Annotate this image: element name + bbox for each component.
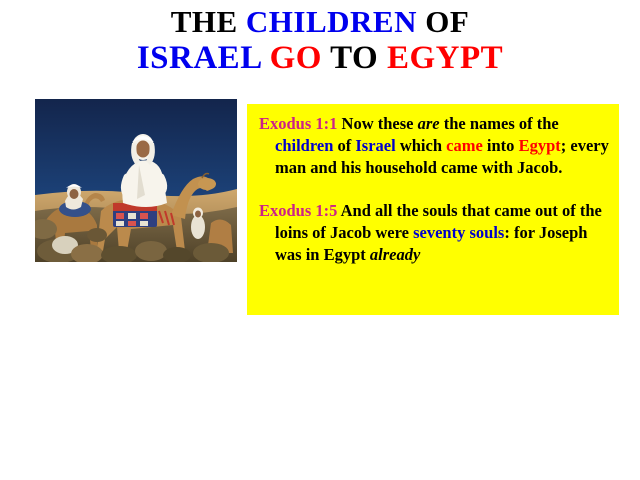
title-word-children: CHILDREN xyxy=(246,4,425,39)
verse-run-1-9: into xyxy=(483,136,519,155)
slide-title: THE CHILDREN OF ISRAEL GO TO EGYPT xyxy=(0,4,640,76)
verse-run-1-3: the names of the xyxy=(440,114,559,133)
verse-run-2-2-seventy-souls: seventy souls xyxy=(413,223,504,242)
title-word-of: OF xyxy=(425,4,469,39)
title-word-egypt: EGYPT xyxy=(387,40,503,76)
verse-run-2-4-italic-already: already xyxy=(370,245,420,264)
caravan-painting-illustration xyxy=(35,99,237,262)
verse-reference-exodus-1-5: Exodus 1:5 xyxy=(259,201,337,220)
verse-run-1-2-italic-are: are xyxy=(418,114,440,133)
title-word-the: THE xyxy=(171,4,246,39)
verse-paragraph-exodus-1-1: Exodus 1:1 Now these are the names of th… xyxy=(259,113,609,179)
slide-title-line-2: ISRAEL GO TO EGYPT xyxy=(0,40,640,76)
slide-title-line-1: THE CHILDREN OF xyxy=(0,4,640,40)
verse-run-1-6-israel: Israel xyxy=(355,136,395,155)
verse-run-1-4-children: children xyxy=(275,136,333,155)
verse-run-1-1: Now these xyxy=(337,114,417,133)
scripture-text-box: Exodus 1:1 Now these are the names of th… xyxy=(247,104,619,315)
verse-paragraph-exodus-1-5: Exodus 1:5 And all the souls that came o… xyxy=(259,200,609,266)
title-word-israel: ISRAEL xyxy=(137,40,270,76)
verse-run-1-8-came: came xyxy=(446,136,483,155)
title-word-go: GO xyxy=(270,40,331,76)
title-word-to: TO xyxy=(330,40,387,76)
verse-run-1-7: which xyxy=(396,136,446,155)
verse-run-1-10-egypt: Egypt xyxy=(519,136,561,155)
verse-reference-exodus-1-1: Exodus 1:1 xyxy=(259,114,337,133)
verse-run-1-5: of xyxy=(333,136,355,155)
caravan-painting-image xyxy=(35,99,237,262)
